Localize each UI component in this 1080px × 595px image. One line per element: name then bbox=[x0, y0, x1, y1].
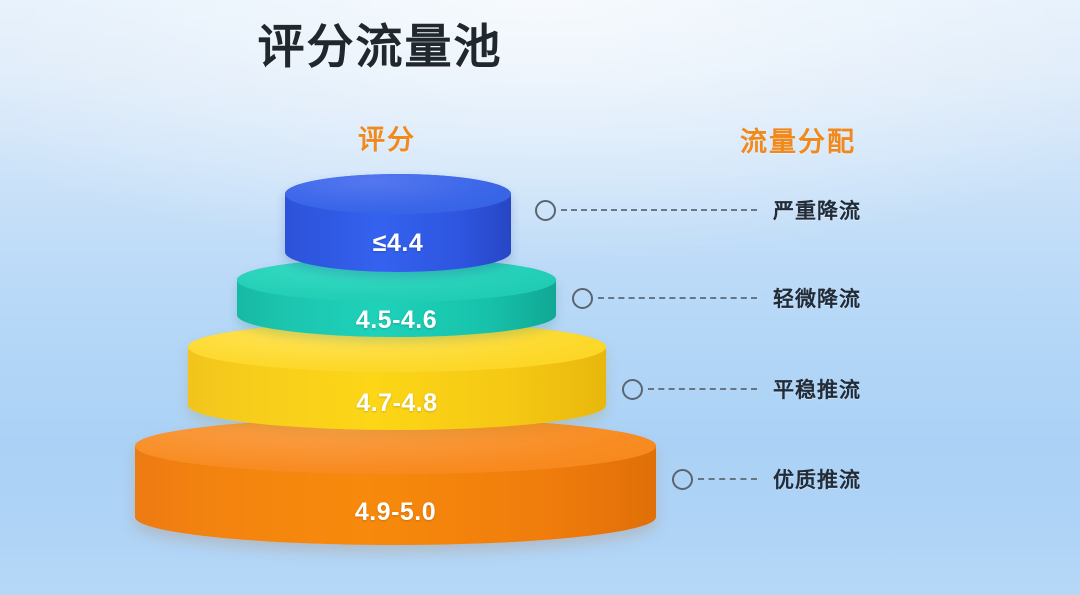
leader-line bbox=[698, 478, 757, 480]
infographic-canvas: 评分流量池 评分 流量分配 4.9-5.0 4.7-4.8 4.5-4.6 ≤4… bbox=[0, 0, 1080, 595]
callout-severe-downgrade: 严重降流 bbox=[535, 195, 861, 225]
callout-label: 严重降流 bbox=[773, 195, 861, 225]
pyramid-tier-blue[interactable]: ≤4.4 bbox=[285, 174, 511, 272]
leader-line bbox=[648, 388, 757, 390]
callout-stable-push: 平稳推流 bbox=[622, 374, 861, 404]
circle-outline-icon bbox=[572, 288, 593, 309]
circle-outline-icon bbox=[622, 379, 643, 400]
callout-slight-downgrade: 轻微降流 bbox=[572, 283, 861, 313]
callout-label: 平稳推流 bbox=[773, 374, 861, 404]
tier-score-label: 4.9-5.0 bbox=[135, 498, 656, 527]
pyramid-chart: 4.9-5.0 4.7-4.8 4.5-4.6 ≤4.4 bbox=[0, 0, 1080, 595]
leader-line bbox=[598, 297, 757, 299]
tier-score-label: 4.5-4.6 bbox=[237, 306, 556, 335]
tier-score-label: 4.7-4.8 bbox=[188, 389, 606, 418]
circle-outline-icon bbox=[672, 469, 693, 490]
pyramid-tier-yellow[interactable]: 4.7-4.8 bbox=[188, 322, 606, 430]
leader-line bbox=[561, 209, 757, 211]
circle-outline-icon bbox=[535, 200, 556, 221]
pyramid-tier-orange[interactable]: 4.9-5.0 bbox=[135, 418, 656, 545]
tier-top-ellipse bbox=[285, 174, 511, 214]
tier-score-label: ≤4.4 bbox=[285, 229, 511, 258]
callout-label: 优质推流 bbox=[773, 464, 861, 494]
callout-premium-push: 优质推流 bbox=[672, 464, 861, 494]
callout-label: 轻微降流 bbox=[773, 283, 861, 313]
